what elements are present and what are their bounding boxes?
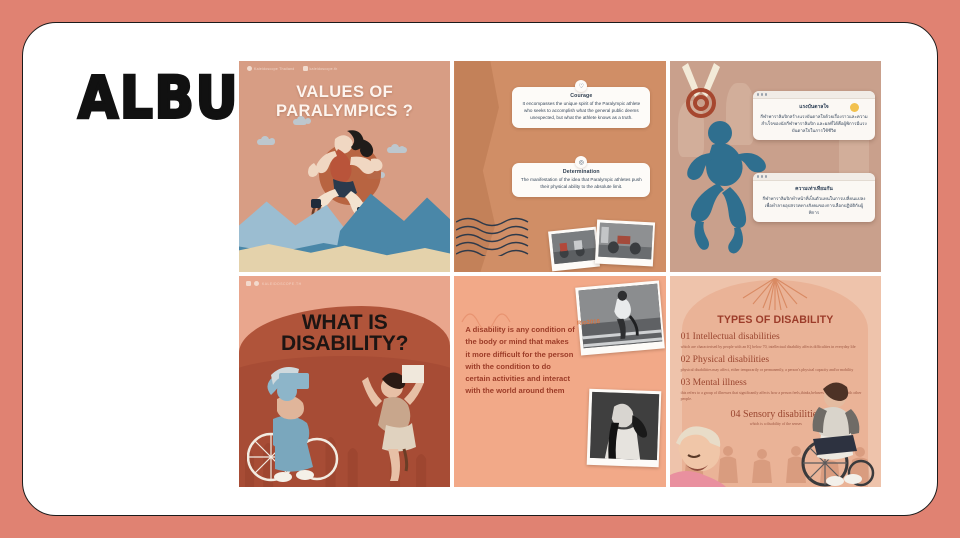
prosthetic-arm-portrait-photo <box>586 388 661 466</box>
list-item-title: Mental illness <box>693 377 747 388</box>
social-handles: Kaleidoscope Thailand kaleidoscope.th <box>247 66 337 71</box>
instagram-handle-label: kaleidoscope.th <box>310 67 338 71</box>
panel4-title-line2: DISABILITY? <box>239 333 450 354</box>
courage-card-body: It encompasses the unique spirit of the … <box>519 101 643 122</box>
list-item-heading: 02 Physical disabilities <box>681 355 871 366</box>
heart-icon: ♡ <box>575 80 587 92</box>
thai-card-equality[interactable]: ความเท่าเทียมกัน กีฬาพาราลิมปิกทำหน้าที่… <box>753 173 875 222</box>
wheelchair-user-illustration <box>247 365 343 485</box>
courage-card[interactable]: ♡ Courage It encompasses the unique spir… <box>512 87 650 128</box>
woman-wheelchair-laptop-photo <box>795 377 879 487</box>
list-item-title: Intellectual disabilities <box>693 331 780 342</box>
handcycle-street-photo <box>595 219 655 265</box>
thai-card-inspiration[interactable]: แรงบันดาลใจ กีฬาพาราลิมปิกสร้างแรงบันดาล… <box>753 91 875 140</box>
blade-runner-track-photo <box>575 280 665 355</box>
window-titlebar <box>753 173 875 181</box>
account-badge-label: KALEIDOSCOPE.TH <box>262 282 302 286</box>
sunburst-rays-decor <box>741 278 809 314</box>
panel-thai-values[interactable]: แรงบันดาลใจ กีฬาพาราลิมปิกสร้างแรงบันดาล… <box>670 61 881 272</box>
target-icon: ◎ <box>575 156 587 168</box>
list-item-number: 04 <box>731 409 741 420</box>
panel1-title-line2: PARALYMPICS ? <box>239 102 450 121</box>
panel-what-is-disability[interactable]: KALEIDOSCOPE.TH WHAT IS DISABILITY? <box>239 276 450 487</box>
disability-definition-text: A disability is any condition of the bod… <box>465 324 575 398</box>
window-titlebar <box>753 91 875 99</box>
facebook-icon <box>247 66 252 71</box>
panel-types-of-disability[interactable]: TYPES OF DISABILITY 01 Intellectual disa… <box>670 276 881 487</box>
determination-card[interactable]: ◎ Determination The manifestation of the… <box>512 163 650 197</box>
determination-card-body: The manifestation of the idea that Paral… <box>519 177 643 191</box>
cloud-icon <box>257 139 275 145</box>
album-grid: Kaleidoscope Thailand kaleidoscope.th VA… <box>239 61 881 487</box>
smiling-child-photo <box>670 425 726 487</box>
panel4-title: WHAT IS DISABILITY? <box>239 312 450 354</box>
handcycling-race-photo <box>548 226 600 270</box>
account-badge: KALEIDOSCOPE.TH <box>246 281 302 286</box>
cloud-icon <box>293 119 307 125</box>
lightbulb-icon <box>850 103 859 112</box>
list-item-body: which are characterised by people with a… <box>681 344 871 350</box>
instagram-icon <box>246 281 251 286</box>
list-item-number: 02 <box>681 354 691 365</box>
facebook-icon <box>254 281 259 286</box>
panel-values-of-paralympics[interactable]: Kaleidoscope Thailand kaleidoscope.th VA… <box>239 61 450 272</box>
list-item-heading: 01 Intellectual disabilities <box>681 332 871 343</box>
protester-illustration <box>362 365 424 483</box>
list-item-number: 01 <box>681 331 691 342</box>
thai-card-equality-title: ความเท่าเทียมกัน <box>760 185 868 193</box>
slide-page: ALBUM Kaleidoscope Thailand kaleidoscope… <box>0 0 960 538</box>
panel1-title: VALUES OF PARALYMPICS ? <box>239 83 450 122</box>
facebook-handle: Kaleidoscope Thailand <box>247 66 295 71</box>
slide-card: ALBUM Kaleidoscope Thailand kaleidoscope… <box>22 22 938 516</box>
medal-icon <box>678 63 724 119</box>
list-item-body: physical disabilities may affect, either… <box>681 367 871 373</box>
panel4-title-line1: WHAT IS <box>239 312 450 333</box>
list-item: 02 Physical disabilities physical disabi… <box>681 355 871 373</box>
list-item: 01 Intellectual disabilities which are c… <box>681 332 871 350</box>
determination-card-title: Determination <box>519 169 643 175</box>
list-item-title: Physical disabilities <box>693 354 769 365</box>
courage-card-title: Courage <box>519 93 643 99</box>
thai-card-inspiration-body: กีฬาพาราลิมปิกสร้างแรงบันดาลใจด้วยเรื่อง… <box>760 113 868 134</box>
facebook-handle-label: Kaleidoscope Thailand <box>254 67 295 71</box>
thai-card-equality-body: กีฬาพาราลิมปิกทำหน้าที่เป็นตัวแทนในการเป… <box>760 195 868 216</box>
instagram-handle: kaleidoscope.th <box>303 66 338 71</box>
panel-disability-definition[interactable]: A disability is any condition of the bod… <box>454 276 665 487</box>
panel1-title-line1: VALUES OF <box>239 83 450 102</box>
list-item-number: 03 <box>681 377 691 388</box>
panel-courage-determination[interactable]: ♡ Courage It encompasses the unique spir… <box>454 61 665 272</box>
wave-lines-decor <box>456 216 534 256</box>
panel6-title: TYPES OF DISABILITY <box>670 314 881 326</box>
instagram-icon <box>303 66 308 71</box>
